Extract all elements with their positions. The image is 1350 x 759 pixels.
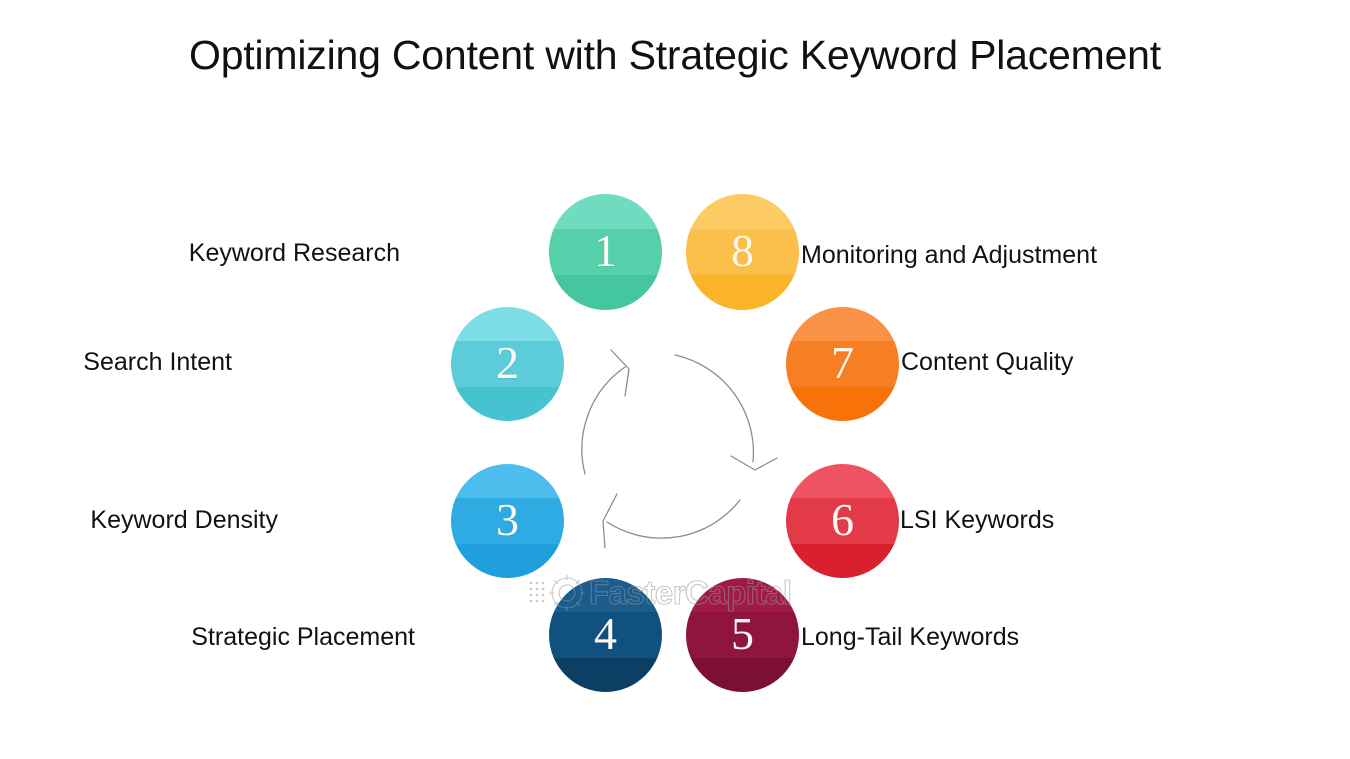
node-3-number: 3 — [451, 464, 564, 578]
node-4-number: 4 — [549, 578, 662, 692]
cycle-node-1[interactable]: 1 — [549, 194, 662, 310]
cycle-node-7[interactable]: 7 — [786, 307, 899, 421]
node-1-number: 1 — [549, 194, 662, 310]
cycle-node-6[interactable]: 6 — [786, 464, 899, 578]
node-2-number: 2 — [451, 307, 564, 421]
node-4-label: Strategic Placement — [191, 622, 415, 652]
node-2-label: Search Intent — [83, 347, 232, 377]
node-6-number: 6 — [786, 464, 899, 578]
node-8-label: Monitoring and Adjustment — [801, 240, 1097, 270]
cycle-node-5[interactable]: 5 — [686, 578, 799, 692]
cycle-node-4[interactable]: 4 — [549, 578, 662, 692]
cycle-diagram: 1 Keyword Research 2 Search Intent 3 Key… — [0, 0, 1350, 759]
node-7-label: Content Quality — [901, 347, 1073, 377]
node-8-number: 8 — [686, 194, 799, 310]
slide-canvas: Optimizing Content with Strategic Keywor… — [0, 0, 1350, 759]
cycle-node-8[interactable]: 8 — [686, 194, 799, 310]
cycle-node-3[interactable]: 3 — [451, 464, 564, 578]
node-5-label: Long-Tail Keywords — [801, 622, 1019, 652]
node-7-number: 7 — [786, 307, 899, 421]
node-5-number: 5 — [686, 578, 799, 692]
node-1-label: Keyword Research — [189, 238, 400, 268]
node-6-label: LSI Keywords — [900, 505, 1054, 535]
cycle-node-2[interactable]: 2 — [451, 307, 564, 421]
node-3-label: Keyword Density — [90, 505, 278, 535]
cycle-arrows-icon — [565, 322, 795, 552]
